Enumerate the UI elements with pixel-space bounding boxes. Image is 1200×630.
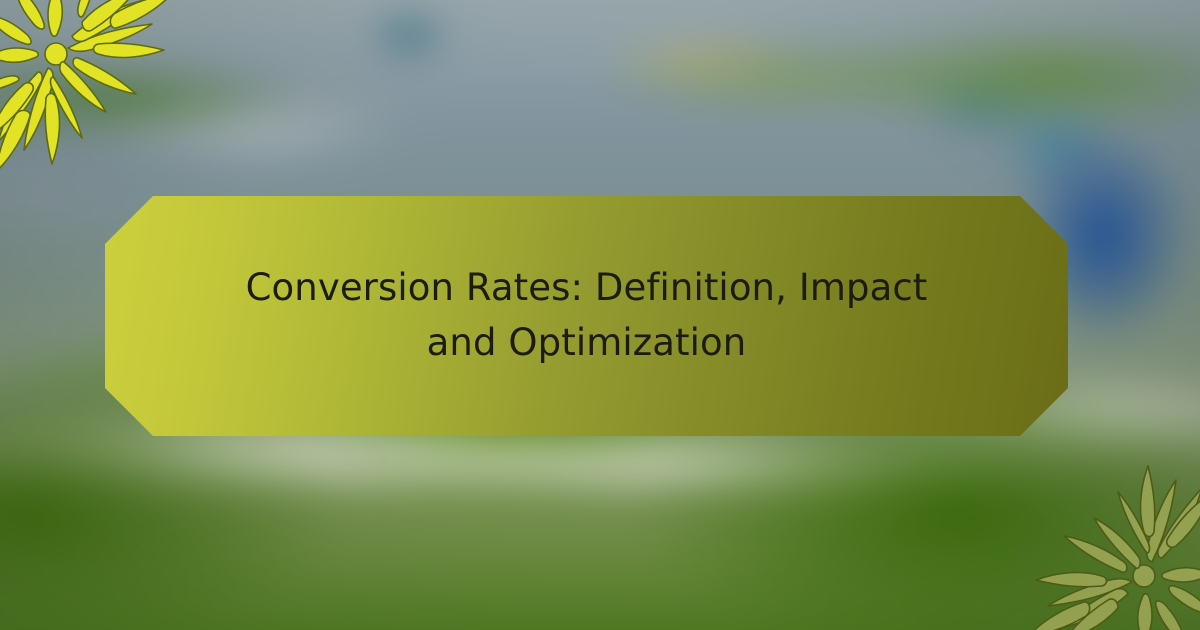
page-title: Conversion Rates: Definition, Impact and… [207,261,967,371]
share-card: Conversion Rates: Definition, Impact and… [0,0,1200,630]
title-banner: Conversion Rates: Definition, Impact and… [105,196,1068,436]
